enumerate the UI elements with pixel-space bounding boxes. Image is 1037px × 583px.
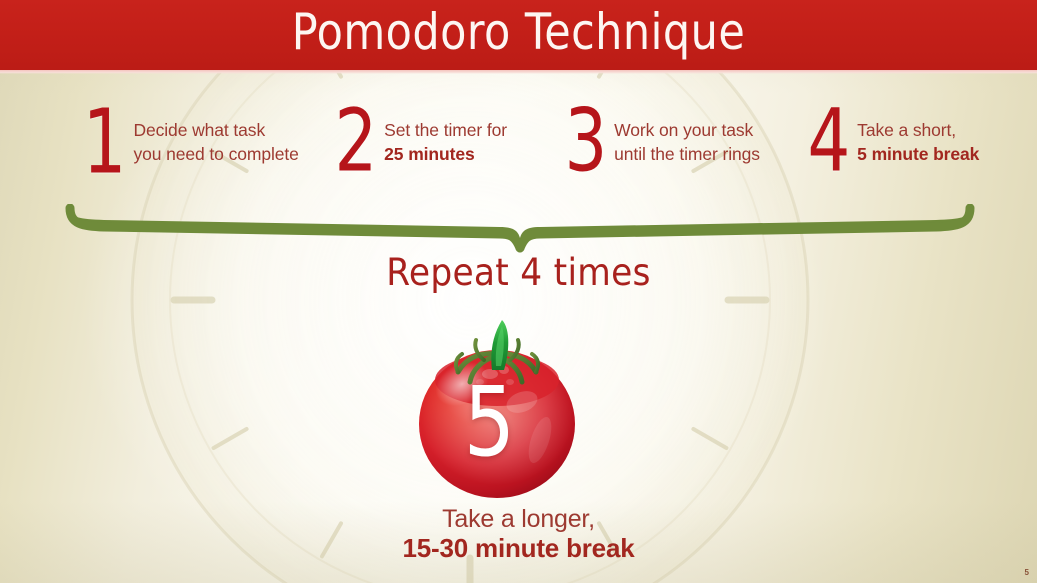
steps-row: 1 Decide what task you need to complete … [0, 104, 1037, 194]
step-line1-1: Decide what task [133, 120, 265, 140]
step-line1-3: Work on your task [614, 120, 753, 140]
step-number-2: 2 [335, 103, 376, 181]
step-text-3: Work on your task until the timer rings [614, 104, 760, 166]
title-bar: Pomodoro Technique [0, 0, 1037, 70]
page-number: 5 [1025, 568, 1029, 577]
step-item-2: 2 Set the timer for 25 minutes [330, 104, 507, 178]
step-text-1: Decide what task you need to complete [133, 104, 298, 166]
tomato-icon [418, 312, 576, 504]
pomodoro-technique-slide: Pomodoro Technique 1 Decide what task yo… [0, 0, 1037, 583]
step-number-4: 4 [808, 103, 849, 181]
step-line1-2: Set the timer for [384, 120, 507, 140]
caption-line2: 15-30 minute break [0, 534, 1037, 563]
curly-brace-down-icon [60, 204, 980, 254]
title-underline [0, 70, 1037, 74]
repeat-label: Repeat 4 times [36, 250, 1000, 296]
final-step-caption: Take a longer, 15-30 minute break [0, 505, 1037, 563]
step-item-4: 4 Take a short, 5 minute break [803, 104, 979, 178]
step-item-3: 3 Work on your task until the timer ring… [560, 104, 760, 178]
step-line2-1: you need to complete [133, 144, 298, 164]
step-line2-4: 5 minute break [857, 144, 979, 164]
step-number-1: 1 [83, 103, 125, 181]
step-line2-3: until the timer rings [614, 144, 760, 164]
step-line2-2: 25 minutes [384, 144, 474, 164]
step-line1-4: Take a short, [857, 120, 956, 140]
step-item-1: 1 Decide what task you need to complete [78, 104, 299, 178]
step-text-4: Take a short, 5 minute break [857, 104, 979, 166]
step-text-2: Set the timer for 25 minutes [384, 104, 507, 166]
step-number-3: 3 [565, 103, 606, 181]
caption-line1: Take a longer, [0, 505, 1037, 534]
page-title: Pomodoro Technique [73, 0, 965, 67]
